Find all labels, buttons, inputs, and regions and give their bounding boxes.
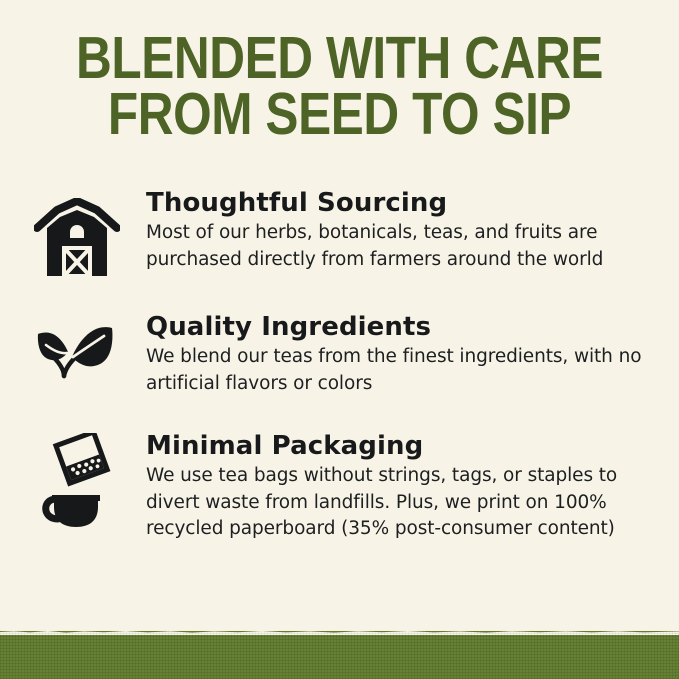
feature-description: We use tea bags without strings, tags, o…	[146, 463, 645, 543]
page-title-line-1: BLENDED WITH CARE	[54, 30, 624, 86]
feature-title: Quality Ingredients	[146, 312, 645, 342]
feature-text-block: Thoughtful Sourcing Most of our herbs, b…	[146, 188, 679, 273]
feature-list: Thoughtful Sourcing Most of our herbs, b…	[0, 188, 679, 543]
band-texture	[0, 631, 679, 679]
feature-item-thoughtful-sourcing: Thoughtful Sourcing Most of our herbs, b…	[0, 188, 679, 276]
bottom-green-band	[0, 631, 679, 679]
feature-text-block: Minimal Packaging We use tea bags withou…	[146, 431, 679, 543]
feature-text-block: Quality Ingredients We blend our teas fr…	[146, 312, 679, 397]
feature-title: Minimal Packaging	[146, 431, 645, 461]
feature-item-minimal-packaging: Minimal Packaging We use tea bags withou…	[0, 431, 679, 543]
feature-description: Most of our herbs, botanicals, teas, and…	[146, 220, 645, 273]
feature-item-quality-ingredients: Quality Ingredients We blend our teas fr…	[0, 312, 679, 397]
leaves-icon	[34, 324, 120, 380]
feature-title: Thoughtful Sourcing	[146, 188, 645, 218]
page-title: BLENDED WITH CARE FROM SEED TO SIP	[54, 30, 624, 142]
barn-icon	[34, 198, 120, 276]
page-title-line-2: FROM SEED TO SIP	[54, 86, 624, 142]
teabag-mug-icon	[34, 433, 120, 527]
product-feature-poster: BLENDED WITH CARE FROM SEED TO SIP	[0, 0, 679, 679]
feature-description: We blend our teas from the finest ingred…	[146, 344, 645, 397]
